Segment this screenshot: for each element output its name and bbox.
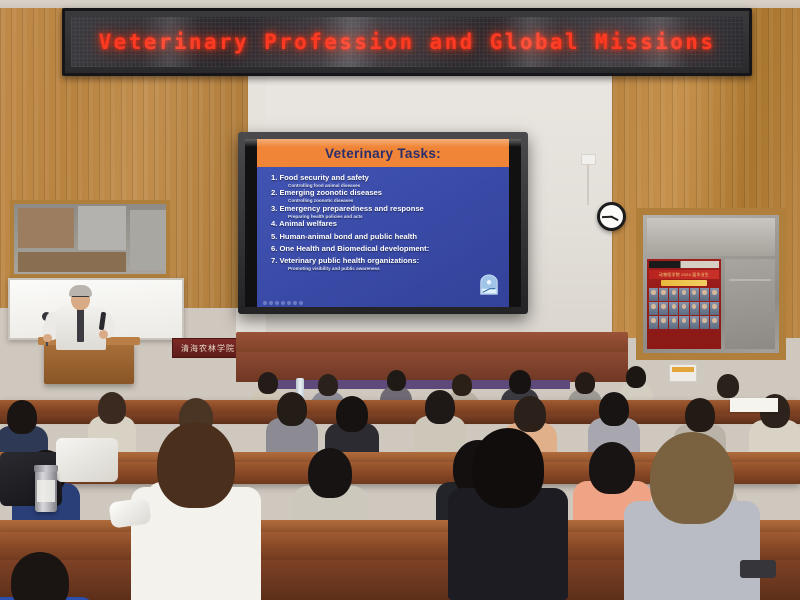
slide-control-icon[interactable]	[269, 301, 273, 305]
speaker-hand-right	[99, 330, 108, 339]
slide-control-icon[interactable]	[287, 301, 291, 305]
screen-glare	[245, 139, 521, 147]
door-transom	[647, 218, 775, 256]
mobile-phone	[740, 560, 776, 578]
screen-surface: Veterinary Tasks: 1. Food security and s…	[245, 139, 521, 307]
poster-portrait	[700, 302, 709, 315]
front-desk-back	[236, 332, 628, 354]
audience-head	[336, 396, 368, 432]
slide-control-icon[interactable]	[281, 301, 285, 305]
poster-portrait	[690, 302, 699, 315]
audience-head	[318, 374, 338, 396]
slide-bullet: 5. Human-animal bond and public health	[271, 233, 509, 242]
thermos-flask	[35, 470, 57, 512]
slide-subbullet: Preparing health policies and acts	[288, 214, 509, 219]
lecture-hall-photo: Veterinary Profession and Global Mission…	[0, 0, 800, 600]
slide-subbullet: Controlling food animal diseases	[288, 183, 509, 188]
poster-portrait	[659, 316, 668, 329]
slide-title: Veterinary Tasks:	[325, 146, 441, 161]
poster-portrait	[649, 302, 658, 315]
poster-title-text: 动物医学院 2024 届毕业生	[659, 272, 709, 278]
slide-control-icon[interactable]	[275, 301, 279, 305]
poster-portrait	[679, 288, 688, 301]
poster-portrait	[649, 288, 658, 301]
light-switch-plate[interactable]	[669, 364, 697, 382]
slide-bullet-list: 1. Food security and safetyControlling f…	[271, 174, 509, 271]
poster-portrait	[659, 302, 668, 315]
poster-portrait	[679, 302, 688, 315]
slide-bullet: 1. Food security and safety	[271, 174, 509, 183]
poster-portrait	[710, 288, 719, 301]
poster-portrait	[649, 316, 658, 329]
poster-subtitle-band	[661, 280, 707, 286]
audience-head	[277, 392, 307, 426]
audience-head	[626, 366, 646, 388]
plaque-text: 清海农林学院	[181, 343, 235, 354]
slide-control-icon[interactable]	[263, 301, 267, 305]
audience-head	[650, 432, 734, 524]
speaker-necktie	[77, 308, 84, 342]
audience-head	[717, 374, 739, 398]
slide-control-icon[interactable]	[293, 301, 297, 305]
jacket-on-desk	[56, 438, 118, 482]
audience-head	[452, 374, 472, 396]
slide-subbullet: Controlling zoonotic diseases	[288, 198, 509, 203]
institution-crest-icon	[478, 274, 500, 296]
wall-speaker-device	[581, 154, 596, 165]
slide-bullet: 4. Animal welfares	[271, 220, 509, 229]
slide-bullet: 3. Emergency preparedness and response	[271, 205, 509, 214]
slide-bullet: 6. One Health and Biomedical development…	[271, 245, 509, 254]
poster-portrait	[669, 302, 678, 315]
slide-player-icons	[263, 301, 303, 305]
audience-head	[575, 372, 595, 394]
audience-head	[514, 396, 546, 432]
audience-head	[98, 392, 126, 424]
slide-body: 1. Food security and safetyControlling f…	[257, 167, 509, 307]
poster-portrait	[690, 316, 699, 329]
audience-head	[509, 370, 531, 394]
speaker-hand-left	[43, 334, 52, 342]
poster-portrait	[700, 288, 709, 301]
eyeglasses-icon	[72, 296, 89, 301]
poster-portrait	[659, 288, 668, 301]
slide-control-icon[interactable]	[299, 301, 303, 305]
clock-center-pin	[610, 215, 613, 218]
device-cable	[587, 165, 589, 205]
audience-head	[685, 398, 715, 432]
poster-portrait	[710, 302, 719, 315]
door-panel	[725, 259, 775, 349]
poster-portrait	[669, 288, 678, 301]
led-marquee-banner: Veterinary Profession and Global Mission…	[62, 8, 752, 76]
wall-alcove-window	[10, 200, 170, 278]
poster-portrait	[679, 316, 688, 329]
led-panel: Veterinary Profession and Global Mission…	[71, 17, 743, 67]
wall-clock	[597, 202, 626, 231]
audience-head	[7, 400, 37, 434]
projection-screen: Veterinary Tasks: 1. Food security and s…	[238, 132, 528, 314]
audience-head	[258, 372, 278, 394]
audience-head	[308, 448, 352, 498]
audience-head	[157, 422, 235, 508]
slide-bullet: 7. Veterinary public health organization…	[271, 257, 509, 266]
doorway[interactable]: 动物医学院 2024 届毕业生	[636, 208, 786, 360]
poster-portrait	[690, 288, 699, 301]
front-desk	[236, 352, 628, 382]
poster-title-banner: 动物医学院 2024 届毕业生	[649, 270, 719, 279]
poster-portrait	[700, 316, 709, 329]
audience-head	[425, 390, 455, 424]
paper-sheet	[730, 398, 778, 412]
poster-portrait	[710, 316, 719, 329]
audience-head	[472, 428, 544, 508]
graduation-poster: 动物医学院 2024 届毕业生	[647, 259, 721, 349]
audience-head	[387, 370, 406, 391]
presentation-slide: Veterinary Tasks: 1. Food security and s…	[257, 139, 509, 307]
audience-head	[589, 442, 635, 494]
audience-head	[599, 392, 629, 426]
slide-subbullet: Promoting visibility and public awarenes…	[288, 266, 509, 271]
poster-portrait-grid	[649, 288, 719, 346]
institution-plaque: 清海农林学院	[172, 338, 244, 358]
poster-portrait	[669, 316, 678, 329]
